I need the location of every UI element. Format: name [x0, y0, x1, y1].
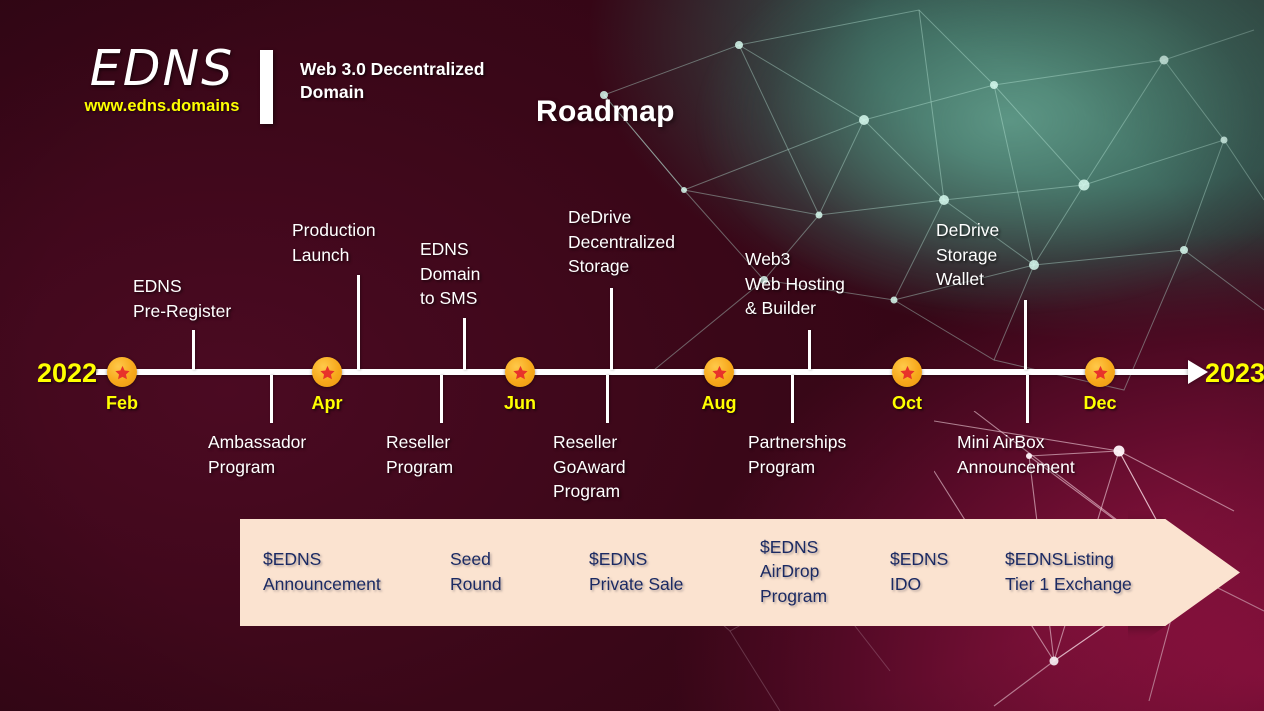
token-banner-item-0: $EDNS Announcement — [263, 547, 381, 597]
connector-line-above-4 — [808, 330, 811, 370]
timeline-marker-oct[interactable] — [892, 357, 922, 387]
connector-line-above-5 — [1024, 300, 1027, 370]
header-divider — [260, 50, 273, 124]
timeline-month-label-aug: Aug — [702, 393, 737, 414]
star-icon — [319, 364, 336, 381]
connector-line-above-2 — [463, 318, 466, 370]
timeline-month-label-oct: Oct — [892, 393, 922, 414]
star-icon — [899, 364, 916, 381]
timeline-month-label-jun: Jun — [504, 393, 536, 414]
token-banner-item-3: $EDNS AirDrop Program — [760, 535, 827, 610]
page-title: Roadmap — [536, 95, 675, 129]
connector-line-below-3 — [791, 375, 794, 423]
timeline-month-label-feb: Feb — [106, 393, 138, 414]
timeline-marker-apr[interactable] — [312, 357, 342, 387]
connector-line-above-1 — [357, 275, 360, 370]
milestone-label-above-2: EDNS Domain to SMS — [420, 237, 480, 311]
milestone-label-above-3: DeDrive Decentralized Storage — [568, 205, 675, 279]
token-banner-item-4: $EDNS IDO — [890, 547, 948, 597]
timeline-month-label-dec: Dec — [1083, 393, 1116, 414]
milestone-label-above-5: DeDrive Storage Wallet — [936, 218, 999, 292]
milestone-label-above-1: Production Launch — [292, 218, 376, 267]
token-banner-item-1: Seed Round — [450, 547, 502, 597]
star-icon — [512, 364, 529, 381]
milestone-label-below-1: Reseller Program — [386, 430, 453, 479]
star-icon — [114, 364, 131, 381]
milestone-label-above-0: EDNS Pre-Register — [133, 274, 231, 323]
connector-line-above-0 — [192, 330, 195, 370]
timeline-marker-aug[interactable] — [704, 357, 734, 387]
timeline-end-year: 2023 — [1205, 358, 1264, 389]
roadmap-slide: EDNS www.edns.domains Web 3.0 Decentrali… — [0, 0, 1264, 711]
brand-url[interactable]: www.edns.domains — [72, 97, 252, 116]
timeline-axis — [96, 369, 1194, 375]
timeline-start-year: 2022 — [37, 358, 97, 389]
milestone-label-below-0: Ambassador Program — [208, 430, 306, 479]
star-icon — [711, 364, 728, 381]
token-banner-item-2: $EDNS Private Sale — [589, 547, 683, 597]
brand-name: EDNS — [72, 44, 252, 93]
timeline-marker-dec[interactable] — [1085, 357, 1115, 387]
star-icon — [1092, 364, 1109, 381]
connector-line-below-0 — [270, 375, 273, 423]
timeline-month-label-apr: Apr — [312, 393, 343, 414]
connector-line-above-3 — [610, 288, 613, 370]
milestone-label-above-4: Web3 Web Hosting & Builder — [745, 247, 845, 321]
milestone-label-below-2: Reseller GoAward Program — [553, 430, 626, 504]
brand-tagline: Web 3.0 Decentralized Domain — [300, 58, 500, 105]
milestone-label-below-3: Partnerships Program — [748, 430, 846, 479]
timeline-marker-feb[interactable] — [107, 357, 137, 387]
timeline-marker-jun[interactable] — [505, 357, 535, 387]
brand-logo: EDNS www.edns.domains — [72, 44, 252, 116]
connector-line-below-4 — [1026, 375, 1029, 423]
connector-line-below-1 — [440, 375, 443, 423]
milestone-label-below-4: Mini AirBox Announcement — [957, 430, 1075, 479]
token-banner-item-5: $EDNSListing Tier 1 Exchange — [1005, 547, 1132, 597]
connector-line-below-2 — [606, 375, 609, 423]
